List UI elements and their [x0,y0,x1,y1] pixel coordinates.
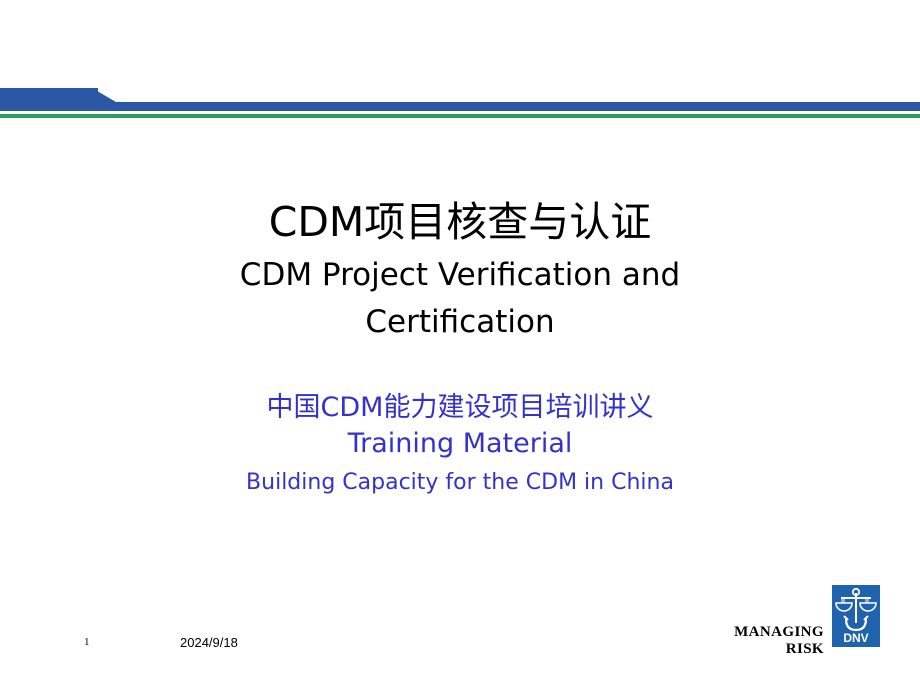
slide-title-english-line2: Certification [60,302,860,343]
slide-subtitle-english: Training Material [60,426,860,462]
slide-title-block: CDM项目核查与认证 CDM Project Verification and … [60,195,860,343]
slide-date: 2024/9/18 [180,635,238,650]
slide-page-number: 1 [84,636,90,648]
dnv-logo: MANAGING RISK DNV [700,585,880,653]
header-blue-rule [0,102,920,111]
slide-subtitle-chinese: 中国CDM能力建设项目培训讲义 [60,390,860,426]
slide-title-chinese: CDM项目核查与认证 [60,195,860,249]
slide-title-english-line1: CDM Project Verification and [60,255,860,296]
header-blue-block-icon [0,88,98,102]
slide-subtitle-english-secondary: Building Capacity for the CDM in China [60,468,860,498]
svg-text:DNV: DNV [843,631,868,645]
dnv-anchor-scales-icon: DNV [832,585,880,647]
slide-subtitle-block: 中国CDM能力建设项目培训讲义 Training Material Buildi… [60,390,860,498]
slide-header-band [0,0,920,130]
logo-tagline: MANAGING RISK [700,624,824,658]
header-green-rule [0,114,920,118]
